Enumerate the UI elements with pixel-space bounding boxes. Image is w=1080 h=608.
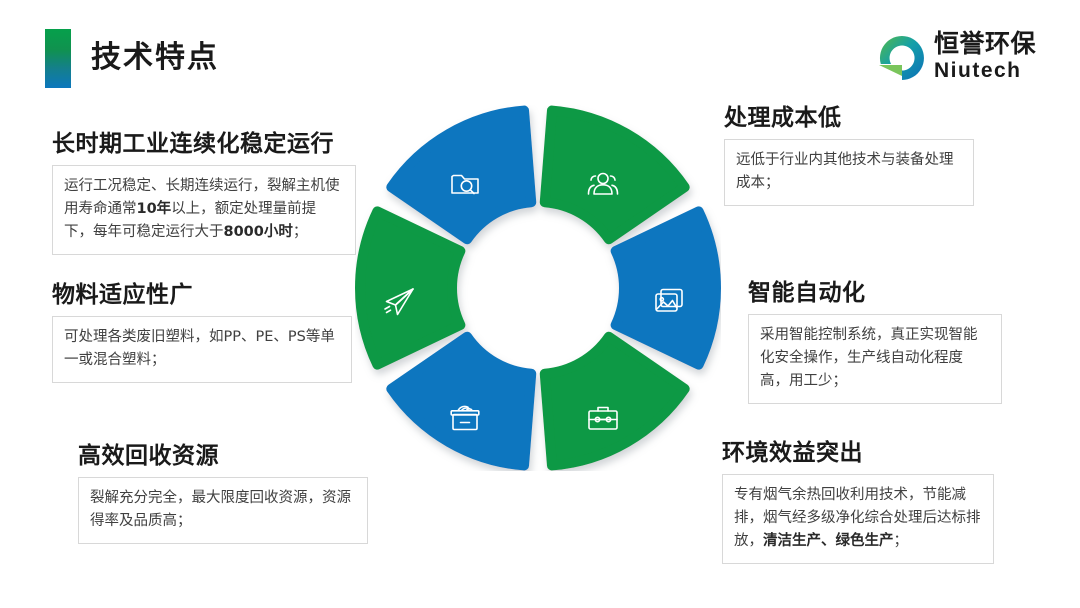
feature-body: 采用智能控制系统，真正实现智能化安全操作，生产线自动化程度高，用工少； bbox=[748, 314, 1002, 404]
process-donut-diagram bbox=[355, 105, 721, 471]
donut-segment-top-left[interactable] bbox=[391, 337, 531, 466]
feature-automation: 智能自动化 采用智能控制系统，真正实现智能化安全操作，生产线自动化程度高，用工少… bbox=[748, 277, 1002, 404]
ring-logo-icon bbox=[876, 32, 928, 84]
feature-body: 裂解充分完全，最大限度回收资源，资源得率及品质高； bbox=[78, 477, 368, 544]
feature-title: 长时期工业连续化稳定运行 bbox=[52, 128, 356, 158]
feature-title: 处理成本低 bbox=[724, 102, 974, 132]
logo-wordmark: 恒誉环保 Niutech bbox=[934, 30, 1066, 83]
title-accent-bar bbox=[45, 29, 71, 88]
logo-name-cn: 恒誉环保 bbox=[934, 30, 1066, 59]
feature-material-adaptability: 物料适应性广 可处理各类废旧塑料，如PP、PE、PS等单一或混合塑料； bbox=[52, 279, 352, 383]
page-title: 技术特点 bbox=[91, 38, 219, 78]
feature-body: 远低于行业内其他技术与装备处理成本； bbox=[724, 139, 974, 206]
donut-segment-bottom-right[interactable] bbox=[545, 111, 685, 240]
donut-segment-bottom-left[interactable] bbox=[616, 211, 716, 364]
feature-title: 环境效益突出 bbox=[722, 437, 994, 467]
feature-body: 专有烟气余热回收利用技术，节能减排，烟气经多级净化综合处理后达标排放，清洁生产、… bbox=[722, 474, 994, 564]
feature-resource-recovery: 高效回收资源 裂解充分完全，最大限度回收资源，资源得率及品质高； bbox=[78, 440, 368, 544]
feature-body: 可处理各类废旧塑料，如PP、PE、PS等单一或混合塑料； bbox=[52, 316, 352, 383]
feature-title: 高效回收资源 bbox=[78, 440, 368, 470]
feature-title: 智能自动化 bbox=[748, 277, 1002, 307]
logo-name-en: Niutech bbox=[934, 59, 1066, 83]
feature-title: 物料适应性广 bbox=[52, 279, 352, 309]
page-header: 技术特点 恒誉环保 Niutech bbox=[0, 0, 1080, 100]
feature-body: 运行工况稳定、长期连续运行，裂解主机使用寿命通常10年以上，额定处理量前提下，每… bbox=[52, 165, 356, 255]
donut-segment-left[interactable] bbox=[545, 337, 685, 466]
feature-low-cost: 处理成本低 远低于行业内其他技术与装备处理成本； bbox=[724, 102, 974, 206]
feature-long-run: 长时期工业连续化稳定运行 运行工况稳定、长期连续运行，裂解主机使用寿命通常10年… bbox=[52, 128, 356, 255]
donut-segment-top-right[interactable] bbox=[360, 211, 460, 364]
donut-segment-right[interactable] bbox=[391, 111, 531, 240]
brand-logo: 恒誉环保 Niutech bbox=[876, 28, 1066, 88]
feature-environmental-benefit: 环境效益突出 专有烟气余热回收利用技术，节能减排，烟气经多级净化综合处理后达标排… bbox=[722, 437, 994, 564]
